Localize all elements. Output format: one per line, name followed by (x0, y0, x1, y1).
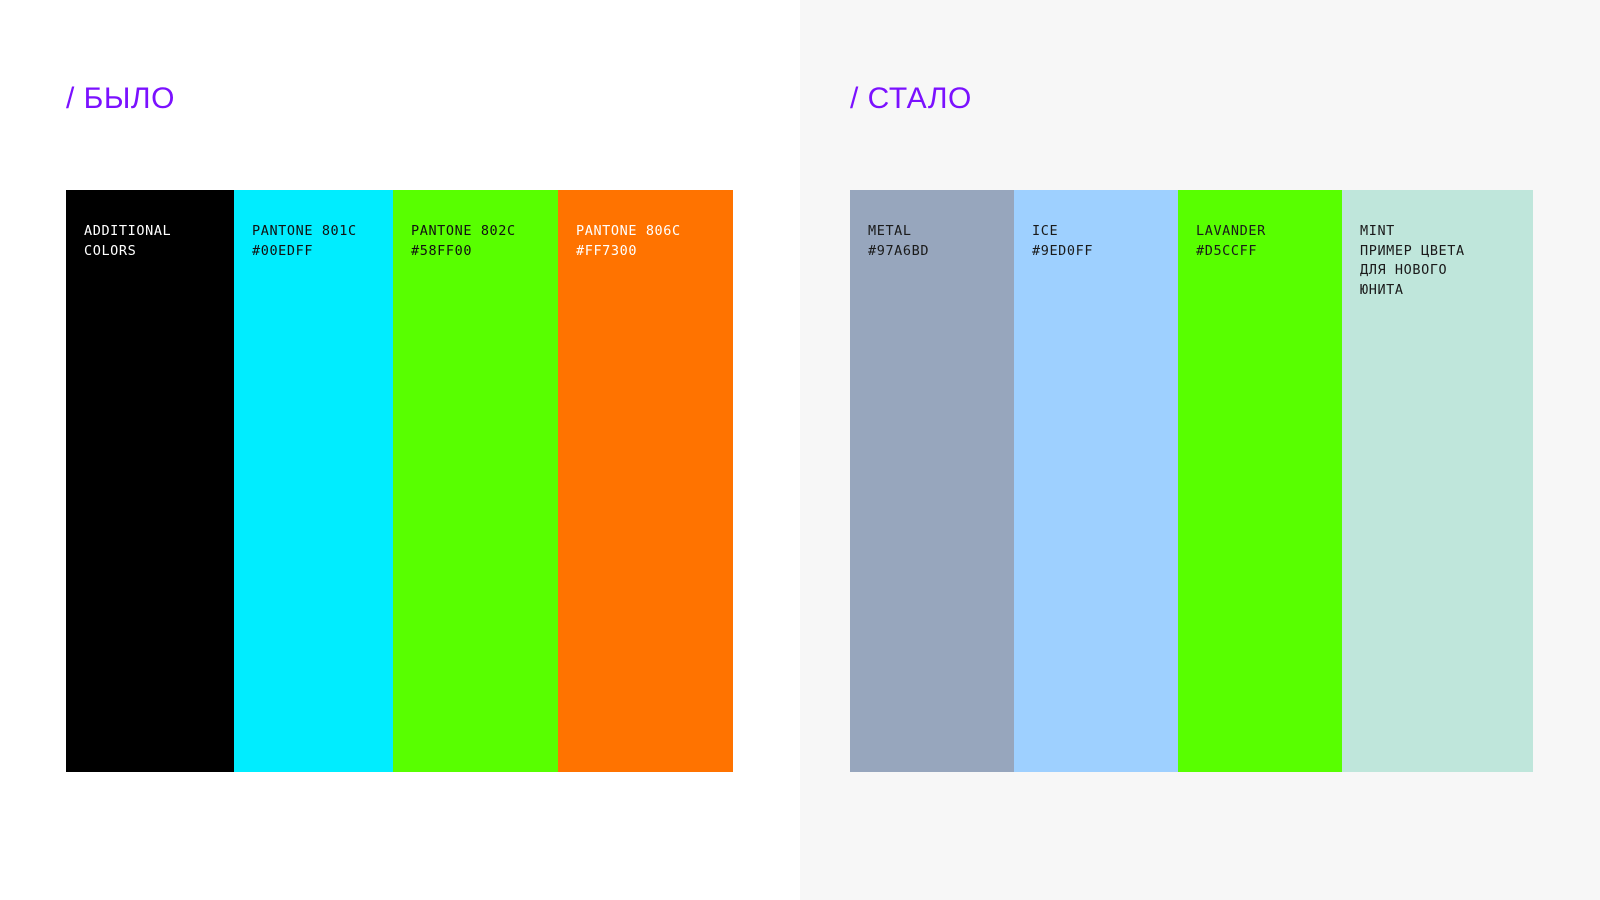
swatch-label: ADDITIONAL COLORS (84, 222, 226, 261)
panel-before: / БЫЛО ADDITIONAL COLORS PANTONE 801C #0… (0, 0, 800, 900)
swatch-additional-colors[interactable]: ADDITIONAL COLORS (66, 190, 234, 772)
color-palette-board: / БЫЛО ADDITIONAL COLORS PANTONE 801C #0… (0, 0, 1600, 900)
swatch-mint[interactable]: MINT ПРИМЕР ЦВЕТА ДЛЯ НОВОГО ЮНИТА (1342, 190, 1533, 772)
swatch-metal[interactable]: METAL #97A6BD (850, 190, 1014, 772)
panel-after-swatch-row: METAL #97A6BD ICE #9ED0FF LAVANDER #D5CC… (850, 190, 1533, 772)
swatch-pantone-802c[interactable]: PANTONE 802C #58FF00 (393, 190, 558, 772)
swatch-label: ICE #9ED0FF (1032, 222, 1170, 261)
swatch-pantone-806c[interactable]: PANTONE 806C #FF7300 (558, 190, 733, 772)
swatch-label: METAL #97A6BD (868, 222, 1006, 261)
panel-before-swatch-row: ADDITIONAL COLORS PANTONE 801C #00EDFF P… (66, 190, 733, 772)
swatch-lavander[interactable]: LAVANDER #D5CCFF (1178, 190, 1342, 772)
swatch-label: PANTONE 801C #00EDFF (252, 222, 385, 261)
panel-after-title: / СТАЛО (850, 82, 972, 116)
panel-before-title: / БЫЛО (66, 82, 175, 116)
swatch-pantone-801c[interactable]: PANTONE 801C #00EDFF (234, 190, 393, 772)
swatch-ice[interactable]: ICE #9ED0FF (1014, 190, 1178, 772)
swatch-label: PANTONE 802C #58FF00 (411, 222, 550, 261)
swatch-label: LAVANDER #D5CCFF (1196, 222, 1334, 261)
swatch-label: PANTONE 806C #FF7300 (576, 222, 725, 261)
panel-after: / СТАЛО METAL #97A6BD ICE #9ED0FF LAVAND… (800, 0, 1600, 900)
swatch-label: MINT ПРИМЕР ЦВЕТА ДЛЯ НОВОГО ЮНИТА (1360, 222, 1525, 300)
